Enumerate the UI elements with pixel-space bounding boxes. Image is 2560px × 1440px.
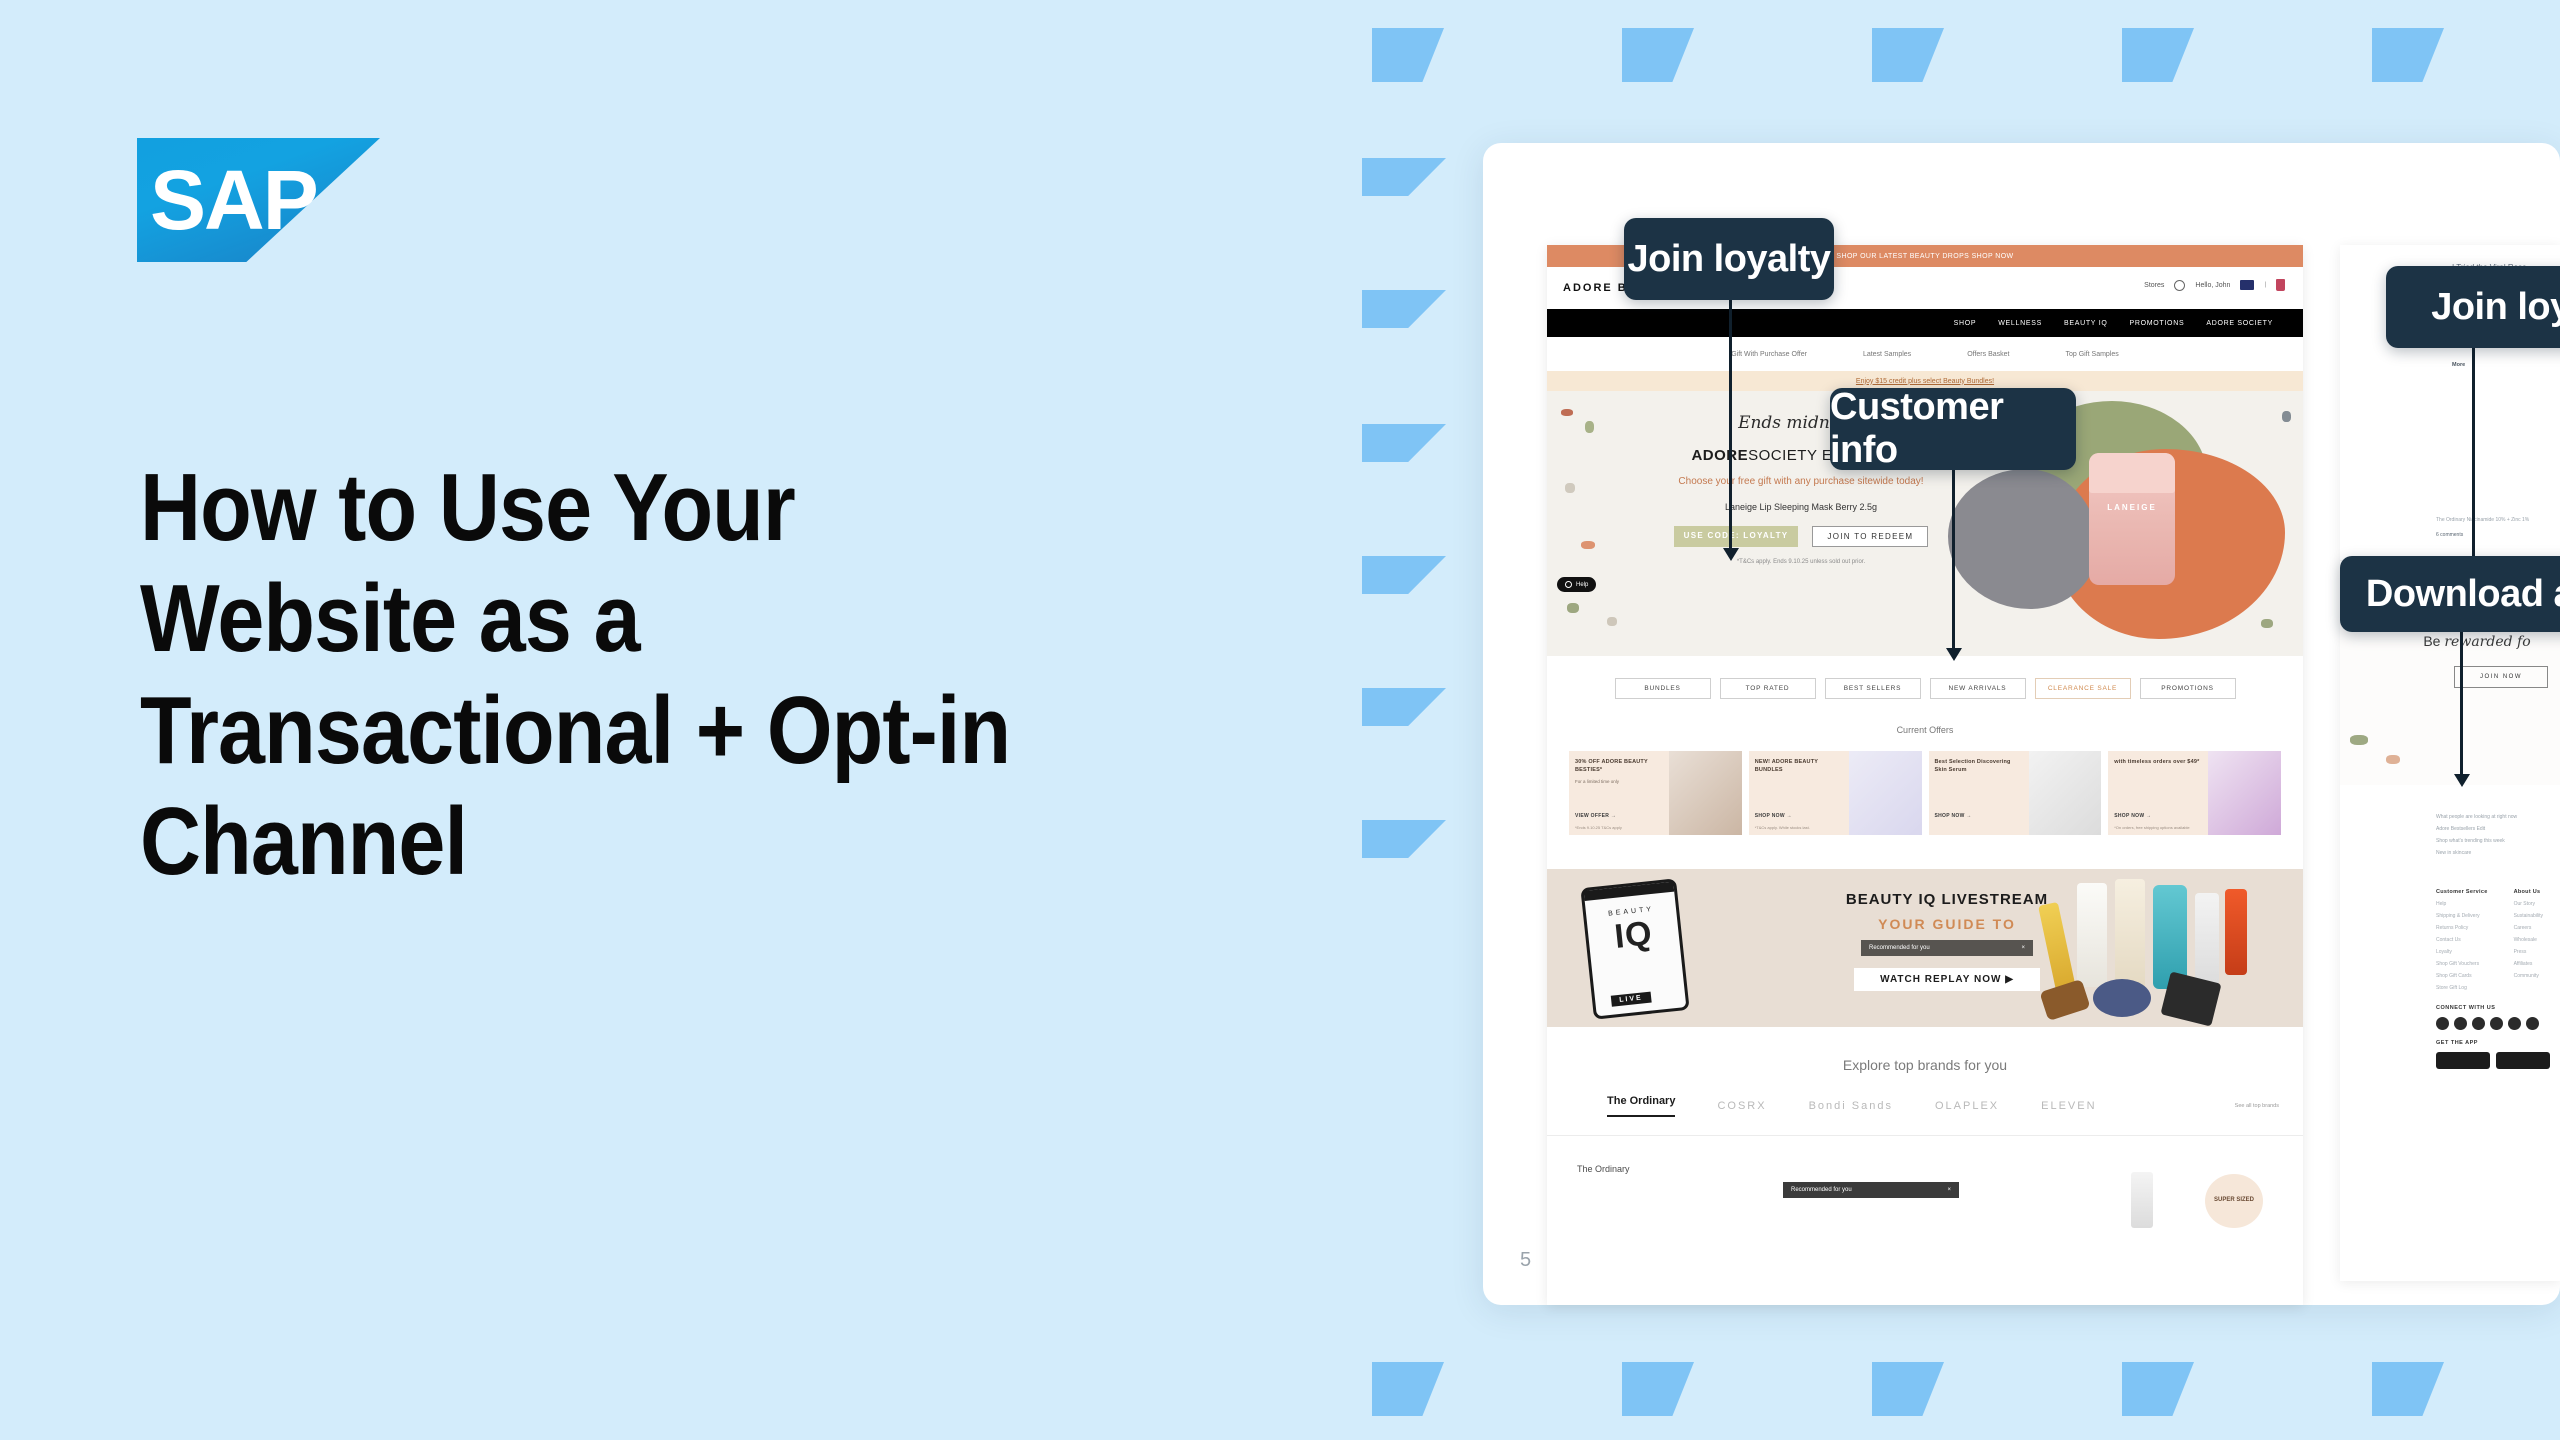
brand-cosrx[interactable]: COSRX	[1717, 1100, 1766, 1112]
app-store-badge[interactable]	[2436, 1052, 2490, 1069]
stores-label[interactable]: Stores	[2144, 282, 2164, 289]
offer-card-link[interactable]: VIEW OFFER →	[1575, 813, 1616, 819]
wishlist-icon[interactable]	[2240, 280, 2254, 290]
tiktok-icon[interactable]	[2490, 1017, 2503, 1030]
footer-link[interactable]: Community	[2514, 973, 2543, 979]
hero-product-name: Laneige Lip Sleeping Mask Berry 2.5g	[1601, 502, 2001, 512]
offer-card[interactable]: NEW! ADORE BEAUTY BUNDLES SHOP NOW → *T&…	[1749, 751, 1922, 835]
sub-nav: Gift With Purchase Offer Latest Samples …	[1547, 337, 2303, 371]
google-play-badge[interactable]	[2496, 1052, 2550, 1069]
recommended-tooltip-label: Recommended for you	[1791, 1187, 1852, 1193]
decor-trapezoid	[1622, 1362, 1694, 1416]
chip-bundles[interactable]: BUNDLES	[1615, 678, 1711, 699]
super-sized-badge: SUPER SIZED	[2205, 1174, 2263, 1228]
footer-link[interactable]: Contact Us	[2436, 937, 2488, 943]
offer-card-heading: Best Selection Discovering Skin Serum	[1935, 758, 2023, 775]
phone-mockup: BEAUTY IQ LIVE	[1580, 878, 1689, 1019]
product-bottle	[2077, 883, 2107, 987]
decor-trapezoid	[1372, 1362, 1444, 1416]
callout-pointer-line	[1729, 300, 1732, 550]
brand-olaplex[interactable]: OLAPLEX	[1935, 1100, 1999, 1112]
nav-item-adoresociety[interactable]: ADORE SOCIETY	[2206, 320, 2273, 327]
decor-trapezoid	[1622, 28, 1694, 82]
footer-column-title: Customer Service	[2436, 889, 2488, 895]
callout-download-app: Download a	[2340, 556, 2560, 632]
website-mockup-side: I Tried the Viral Rose Deodorant Dusting…	[2340, 245, 2560, 1281]
brand-bondi-sands[interactable]: Bondi Sands	[1809, 1100, 1893, 1112]
subnav-item[interactable]: Offers Basket	[1967, 351, 2009, 358]
nav-item-wellness[interactable]: WELLNESS	[1998, 320, 2042, 327]
side-looking-item[interactable]: New in skincare	[2436, 847, 2560, 859]
recommended-tooltip: Recommended for you ×	[1783, 1182, 1959, 1198]
live-badge: LIVE	[1611, 992, 1651, 1007]
decor-trapezoid	[2372, 1362, 2444, 1416]
chip-promotions[interactable]: PROMOTIONS	[2140, 678, 2236, 699]
callout-join-loyalty: Join loyalty	[1624, 218, 1834, 300]
phone-notch	[1584, 882, 1675, 901]
twitter-icon[interactable]	[2526, 1017, 2539, 1030]
confetti	[1585, 421, 1594, 433]
footer-column-customer-service: Customer Service Help Shipping & Deliver…	[2436, 889, 2488, 991]
footer-link[interactable]: Affiliates	[2514, 961, 2543, 967]
callout-arrowhead	[1723, 548, 1739, 561]
side-looking-section: What people are looking at right now Ado…	[2340, 811, 2560, 859]
decor-trapezoid	[2372, 28, 2444, 82]
side-tagline-prefix: Be	[2423, 633, 2444, 649]
site-footer: Customer Service Help Shipping & Deliver…	[2340, 877, 2560, 1069]
recommended-tooltip-label: Recommended for you	[1869, 945, 1930, 951]
decor-trapezoid	[1362, 820, 1446, 858]
sap-logo-text: SAP	[150, 150, 365, 250]
offer-card-link[interactable]: SHOP NOW →	[1755, 813, 1792, 819]
offer-card-heading: with timeless orders over $49*	[2114, 758, 2202, 766]
youtube-icon[interactable]	[2472, 1017, 2485, 1030]
decor-trapezoid	[1872, 1362, 1944, 1416]
footer-column-title: About Us	[2514, 889, 2543, 895]
decor-trapezoid	[1372, 28, 1444, 82]
confetti	[2350, 735, 2368, 745]
footer-link[interactable]: Shop Gift Vouchers	[2436, 961, 2488, 967]
close-icon[interactable]: ×	[1947, 1187, 1951, 1193]
decor-trapezoid	[1362, 158, 1446, 196]
bottom-brand-label: The Ordinary	[1577, 1164, 2273, 1174]
nav-item-promotions[interactable]: PROMOTIONS	[2129, 320, 2184, 327]
confetti	[1607, 617, 1617, 626]
offer-card-fine: *Ends 9.10.25 T&Cs apply	[1575, 825, 1622, 830]
product-bottle	[2039, 979, 2090, 1021]
product-bottle	[2093, 979, 2151, 1017]
side-tagline: Be rewarded fo	[2340, 633, 2560, 650]
side-review-comments-link[interactable]: 6 comments	[2436, 531, 2536, 540]
location-pin-icon[interactable]	[2174, 280, 2185, 291]
decor-trapezoid	[2122, 1362, 2194, 1416]
decor-trapezoid	[1362, 290, 1446, 328]
callout-pointer-line	[2472, 348, 2475, 588]
bottom-product-row: The Ordinary Recommended for you × SUPER…	[1547, 1164, 2303, 1230]
product-bottle	[2195, 893, 2219, 985]
hero-subtitle: Choose your free gift with any purchase …	[1601, 474, 2001, 490]
offer-card-image	[2029, 751, 2102, 835]
side-looking-item[interactable]: Shop what's trending this week	[2436, 835, 2560, 847]
footer-link[interactable]: Press	[2514, 949, 2543, 955]
footer-column-about: About Us Our Story Sustainability Career…	[2514, 889, 2543, 991]
product-bottle	[2115, 879, 2145, 989]
confetti	[2261, 619, 2273, 628]
nav-item-shop[interactable]: SHOP	[1954, 320, 1977, 327]
see-all-brands-link[interactable]: See all top brands	[2235, 1103, 2279, 1109]
callout-customer-info: Customer info	[1830, 388, 2076, 470]
subnav-item[interactable]: Top Gift Samples	[2065, 351, 2118, 358]
footer-link[interactable]: Sustainability	[2514, 913, 2543, 919]
footer-link[interactable]: Careers	[2514, 925, 2543, 931]
facebook-icon[interactable]	[2436, 1017, 2449, 1030]
product-bottle	[2225, 889, 2247, 975]
offer-card-text: with timeless orders over $49*	[2108, 751, 2208, 835]
footer-link[interactable]: Returns Policy	[2436, 925, 2488, 931]
product-thumbnail[interactable]	[2131, 1172, 2153, 1228]
footer-link[interactable]: Loyalty	[2436, 949, 2488, 955]
brands-title: Explore top brands for you	[1547, 1057, 2303, 1073]
page-title: How to Use Your Website as a Transaction…	[140, 452, 1020, 897]
decor-trapezoid	[1362, 424, 1446, 462]
offer-card-text: NEW! ADORE BEAUTY BUNDLES	[1749, 751, 1849, 835]
offer-card-image	[2208, 751, 2281, 835]
offer-card[interactable]: with timeless orders over $49* SHOP NOW …	[2108, 751, 2281, 835]
cart-icon[interactable]	[2276, 279, 2285, 291]
page-number: 5	[1520, 1249, 1531, 1272]
chip-clearance-sale[interactable]: CLEARANCE SALE	[2035, 678, 2131, 699]
confetti	[1567, 603, 1579, 613]
offer-card-link[interactable]: SHOP NOW →	[1935, 813, 1972, 819]
decor-trapezoid	[1362, 556, 1446, 594]
offer-card-text: Best Selection Discovering Skin Serum	[1929, 751, 2029, 835]
offer-card[interactable]: 30% OFF ADORE BEAUTY BESTIES* For a limi…	[1569, 751, 1742, 835]
instagram-icon[interactable]	[2454, 1017, 2467, 1030]
offer-card-image	[1669, 751, 1742, 835]
brand-eleven[interactable]: ELEVEN	[2041, 1100, 2096, 1112]
offer-card-fine: *T&Cs apply. While stocks last.	[1755, 825, 1810, 830]
side-article-more-link[interactable]: More	[2452, 362, 2546, 368]
main-nav: SHOP WELLNESS BEAUTY IQ PROMOTIONS ADORE…	[1547, 309, 2303, 337]
product-bottle	[2038, 902, 2076, 992]
offer-card-link[interactable]: SHOP NOW →	[2114, 813, 2151, 819]
offer-card-fine: *On orders, free shipping options availa…	[2114, 825, 2189, 830]
offer-card-heading: 30% OFF ADORE BEAUTY BESTIES*	[1575, 758, 1663, 775]
side-tagline-script: rewarded fo	[2444, 634, 2530, 650]
separator: |	[2264, 282, 2266, 288]
connect-with-us-label: CONNECT WITH US	[2436, 1005, 2560, 1011]
brands-row: The Ordinary COSRX Bondi Sands OLAPLEX E…	[1547, 1095, 2303, 1117]
promo-code-badge[interactable]: USE CODE: LOYALTY	[1674, 526, 1799, 547]
decor-trapezoid	[1872, 28, 1944, 82]
help-icon	[1565, 581, 1572, 588]
callout-join-loyalty-side: Join loy	[2386, 266, 2560, 348]
offer-card-sub: For a limited time only	[1575, 779, 1663, 786]
get-the-app-label: GET THE APP	[2436, 1040, 2560, 1046]
confetti	[2282, 411, 2291, 422]
callout-arrowhead	[2454, 774, 2470, 787]
livestream-banner[interactable]: BEAUTY IQ LIVE BEAUTY IQ LIVESTREAM YOUR…	[1547, 869, 2303, 1027]
watch-replay-button[interactable]: WATCH REPLAY NOW ▶	[1854, 968, 2040, 991]
chip-best-sellers[interactable]: BEST SELLERS	[1825, 678, 1921, 699]
help-label: Help	[1576, 582, 1588, 588]
side-looking-title: What people are looking at right now	[2436, 811, 2560, 823]
offer-card-heading: NEW! ADORE BEAUTY BUNDLES	[1755, 758, 1843, 775]
offer-card-text: 30% OFF ADORE BEAUTY BESTIES* For a limi…	[1569, 751, 1669, 835]
confetti	[1565, 483, 1575, 493]
footer-link[interactable]: Wholesale	[2514, 937, 2543, 943]
chip-new-arrivals[interactable]: NEW ARRIVALS	[1930, 678, 2026, 699]
confetti	[1581, 541, 1595, 549]
offer-card-list: 30% OFF ADORE BEAUTY BESTIES* For a limi…	[1547, 751, 2303, 835]
side-review: The Ordinary Niacinamide 10% + Zinc 1% 6…	[2436, 516, 2536, 540]
callout-arrowhead	[1946, 648, 1962, 661]
join-now-button[interactable]: JOIN NOW	[2454, 666, 2548, 688]
callout-pointer-line	[1952, 470, 1955, 650]
footer-link[interactable]: Store Gift Log	[2436, 985, 2488, 991]
close-icon[interactable]: ×	[2021, 945, 2025, 951]
product-brand-label: LANEIGE	[2097, 503, 2167, 512]
brand-the-ordinary[interactable]: The Ordinary	[1607, 1095, 1675, 1117]
category-chip-row: BUNDLES TOP RATED BEST SELLERS NEW ARRIV…	[1547, 678, 2303, 699]
confetti	[2386, 755, 2400, 764]
hero-headline-bold: ADORE	[1691, 447, 1748, 464]
livestream-products-image	[2033, 869, 2303, 1027]
subnav-item[interactable]: Latest Samples	[1863, 351, 1911, 358]
product-lid	[2089, 453, 2175, 493]
recommended-tooltip: Recommended for you ×	[1861, 940, 2033, 956]
join-to-redeem-button[interactable]: JOIN TO REDEEM	[1812, 526, 1928, 547]
pinterest-icon[interactable]	[2508, 1017, 2521, 1030]
footer-link[interactable]: Shipping & Delivery	[2436, 913, 2488, 919]
side-review-text: The Ordinary Niacinamide 10% + Zinc 1%	[2436, 516, 2536, 525]
app-badge-row	[2436, 1052, 2560, 1069]
hero-cta-row: USE CODE: LOYALTY JOIN TO REDEEM	[1601, 526, 2001, 547]
footer-link[interactable]: Help	[2436, 901, 2488, 907]
current-offers-label: Current Offers	[1547, 725, 2303, 735]
footer-link[interactable]: Our Story	[2514, 901, 2543, 907]
offer-card[interactable]: Best Selection Discovering Skin Serum SH…	[1929, 751, 2102, 835]
utility-actions: Stores Hello, John |	[2144, 279, 2285, 291]
offer-card-image	[1849, 751, 1922, 835]
chip-top-rated[interactable]: TOP RATED	[1720, 678, 1816, 699]
confetti	[1561, 409, 1573, 416]
divider	[1547, 1135, 2303, 1136]
side-looking-item[interactable]: Adore Bestsellers Edit	[2436, 823, 2560, 835]
nav-item-beautyiq[interactable]: BEAUTY IQ	[2064, 320, 2108, 327]
account-greeting[interactable]: Hello, John	[2195, 282, 2230, 289]
subnav-item[interactable]: Gift With Purchase Offer	[1731, 351, 1807, 358]
hero-disclaimer: *T&Cs apply. Ends 9.10.25 unless sold ou…	[1601, 559, 2001, 565]
decor-trapezoid	[2122, 28, 2194, 82]
footer-link[interactable]: Shop Gift Cards	[2436, 973, 2488, 979]
phone-iq-label: IQ	[1587, 910, 1681, 959]
decor-trapezoid	[1362, 688, 1446, 726]
social-icon-row	[2436, 1017, 2560, 1030]
help-button[interactable]: Help	[1557, 577, 1596, 592]
